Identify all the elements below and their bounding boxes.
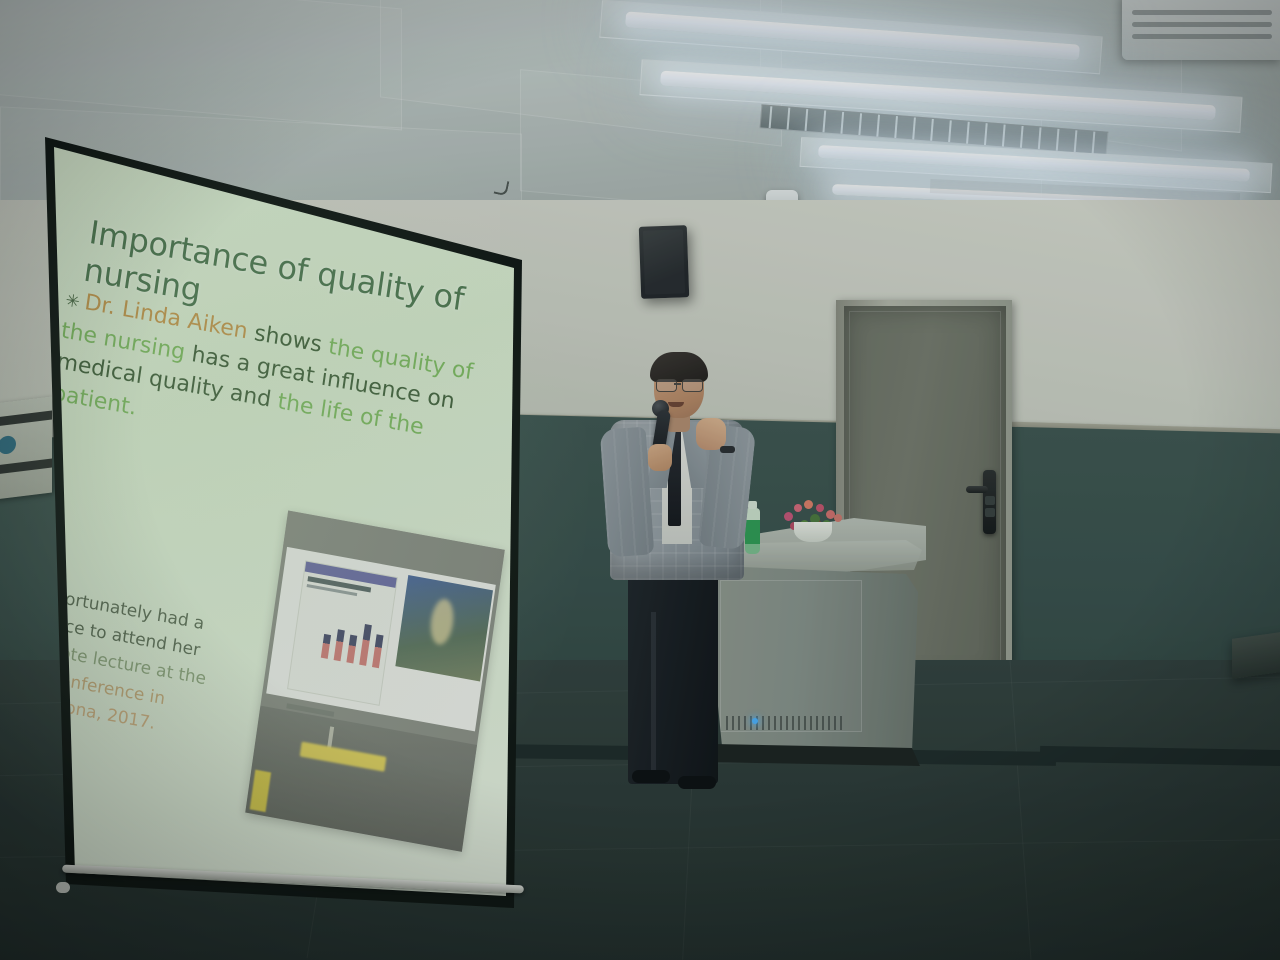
presenter-shoe <box>632 770 670 783</box>
glasses-icon <box>682 379 703 392</box>
screen-rod-knob[interactable] <box>56 882 70 893</box>
air-conditioner-unit <box>1122 0 1280 60</box>
door-handle[interactable] <box>966 486 988 493</box>
door-keypad-icon[interactable] <box>985 508 995 517</box>
glasses-icon <box>656 379 677 392</box>
wall-speaker <box>639 225 689 299</box>
presenter-shoe <box>678 776 716 789</box>
door-keypad-icon[interactable] <box>985 496 995 505</box>
bullet-marker-icon: ✳ <box>64 291 81 313</box>
embedded-dark-photo <box>395 575 493 681</box>
projection-screen: Importance of quality of nursing ✳Dr. Li… <box>30 118 530 908</box>
presenter-hair <box>650 352 708 382</box>
slide-embedded-photo <box>245 511 505 852</box>
presenter-left-arm <box>600 427 655 558</box>
presenter-hand-left <box>648 444 672 471</box>
embedded-article-screenshot <box>287 560 398 706</box>
flower-arrangement <box>776 498 850 542</box>
embedded-lecture-photo <box>245 706 477 852</box>
screen-surface: Importance of quality of nursing ✳Dr. Li… <box>30 118 530 908</box>
lecture-room-photo: Importance of quality of nursing ✳Dr. Li… <box>0 0 1280 960</box>
embedded-bar-chart <box>321 612 389 669</box>
wristwatch <box>720 446 735 453</box>
presenter <box>604 352 754 782</box>
presenter-trousers <box>628 552 718 784</box>
